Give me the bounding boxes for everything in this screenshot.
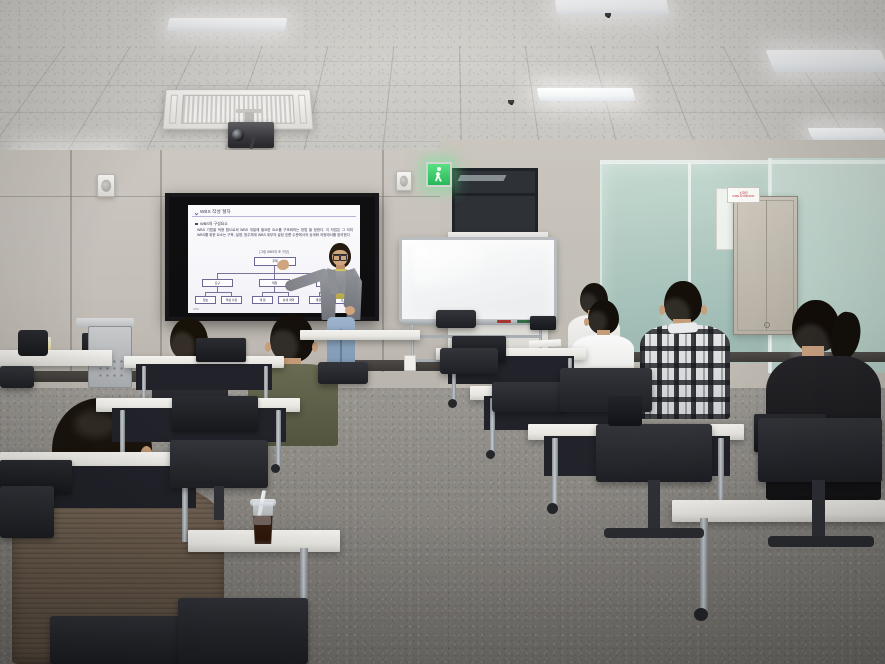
sprinkler-head-2: [605, 13, 611, 17]
wbs-node-l3-1: 정보: [195, 296, 216, 304]
ceiling-light-4: [555, 0, 669, 15]
caster-r2-a: [486, 450, 495, 459]
whiteboard-surface[interactable]: [399, 237, 557, 322]
ceiling-light-6: [807, 128, 885, 140]
attendee-a6-collar: [668, 322, 698, 334]
chair-9[interactable]: [758, 418, 882, 482]
attendee-a6-ear-left: [659, 305, 665, 315]
slide-subhead-bullet-icon: [195, 223, 198, 226]
caster-l2-b: [271, 464, 280, 473]
ac-vane-left: [169, 95, 178, 124]
backpack-left: [18, 330, 48, 356]
chair-base-9: [768, 536, 874, 547]
wall-speaker-right: [396, 171, 412, 191]
chair-2[interactable]: [0, 486, 54, 538]
fire-hydrant-sign: 소화전 FIRE HYDRANT: [727, 187, 760, 203]
ceiling-light-5: [766, 50, 885, 72]
running-person-pictogram: [433, 167, 446, 182]
wall-seam-1: [70, 150, 72, 372]
desk-leg-r3-b: [718, 438, 724, 508]
iced-coffee-cup[interactable]: [250, 492, 276, 544]
instructor-hand: [345, 306, 355, 315]
attendee-a5-ear: [584, 318, 589, 326]
desk-leg-r3-a: [552, 438, 558, 508]
wbs-node-l3-3: 계 정: [252, 296, 273, 304]
slide-subhead: WBS의 구성요소: [200, 221, 228, 227]
bag-under-desk: [608, 396, 642, 426]
back-window: [452, 168, 538, 236]
power-outlet[interactable]: [404, 355, 416, 371]
chair-6[interactable]: [492, 382, 564, 412]
laptop-4[interactable]: [172, 396, 258, 432]
caster-r4-a: [694, 608, 708, 621]
cup-lid: [250, 499, 276, 506]
wall-speaker-left: [97, 174, 115, 197]
attendee-a2-ear-left: [265, 342, 271, 352]
chair-10[interactable]: [0, 366, 34, 388]
wbs-node-l3-2: 핵심 사항: [221, 296, 242, 304]
ceiling-light-3: [536, 88, 635, 101]
slide-title-rule: [192, 216, 356, 217]
eyeglasses-icon: [333, 254, 347, 258]
slide-title: WBS 작성 절차: [200, 209, 231, 215]
slide-footer: WBS: [193, 308, 199, 311]
front-desk-left: [0, 350, 112, 366]
chair-post-8: [648, 480, 660, 532]
ice-cubes: [254, 516, 271, 525]
fire-hydrant-sign-line2: FIRE HYDRANT: [732, 195, 754, 198]
attendee-a6-ear-right: [701, 305, 707, 315]
wbs-node-root: 주제: [254, 257, 296, 266]
glass-top-rail: [600, 160, 885, 164]
wbs-connector-bus-l3-b: [262, 292, 288, 293]
desk-far-center: [300, 330, 420, 340]
desk-modesty-left-1: [136, 364, 272, 390]
whiteboard-sheen: [414, 245, 484, 286]
slide-title-bullet-icon: [195, 211, 199, 215]
emergency-exit-icon: [426, 162, 452, 187]
chair-post-1: [214, 486, 224, 520]
window-divider: [455, 193, 535, 196]
chair-base-8: [604, 528, 704, 538]
marker-red[interactable]: [497, 320, 511, 323]
caster-r3-a: [547, 503, 558, 514]
laptop-1[interactable]: [196, 338, 246, 362]
chair-11[interactable]: [436, 310, 476, 328]
attendee-a6: [640, 281, 730, 419]
ceiling-light-2: [167, 18, 288, 31]
projector-lens: [232, 129, 244, 141]
slide-body-text: WBS 기법을 적용 함으로써 WBS 개발에 필요한 요소를 구조화하는 방법…: [197, 228, 353, 237]
wbs-node-l2-1: 요구: [202, 279, 233, 287]
chair-12[interactable]: [318, 362, 368, 384]
wbs-node-l3-4: 상세 내역: [278, 296, 299, 304]
attendee-a3-hair-sheen: [74, 410, 116, 438]
laptop-7[interactable]: [530, 316, 556, 330]
chair-4[interactable]: [178, 598, 308, 664]
classroom-scene: 소화전 FIRE HYDRANT WBS 작성 절차 WBS의 구성요소 WBS…: [0, 0, 885, 664]
marker-green[interactable]: [517, 320, 531, 323]
sprinkler-head-3: [508, 100, 514, 104]
chair-post-9: [812, 480, 825, 540]
chair-1[interactable]: [170, 440, 268, 488]
chair-5[interactable]: [440, 348, 498, 374]
ac-vane-right: [298, 95, 307, 124]
attendee-a2-ear-right: [312, 342, 318, 352]
caster-fr1-a: [448, 399, 457, 408]
wbs-connector-bus-l3-a: [205, 292, 231, 293]
desk-leg-l2-b: [276, 410, 281, 468]
chair-8[interactable]: [596, 424, 712, 482]
window-glint: [458, 175, 507, 181]
attendee-a6-plaid-shirt: [640, 325, 730, 419]
wbs-connector-root-down: [274, 266, 275, 273]
